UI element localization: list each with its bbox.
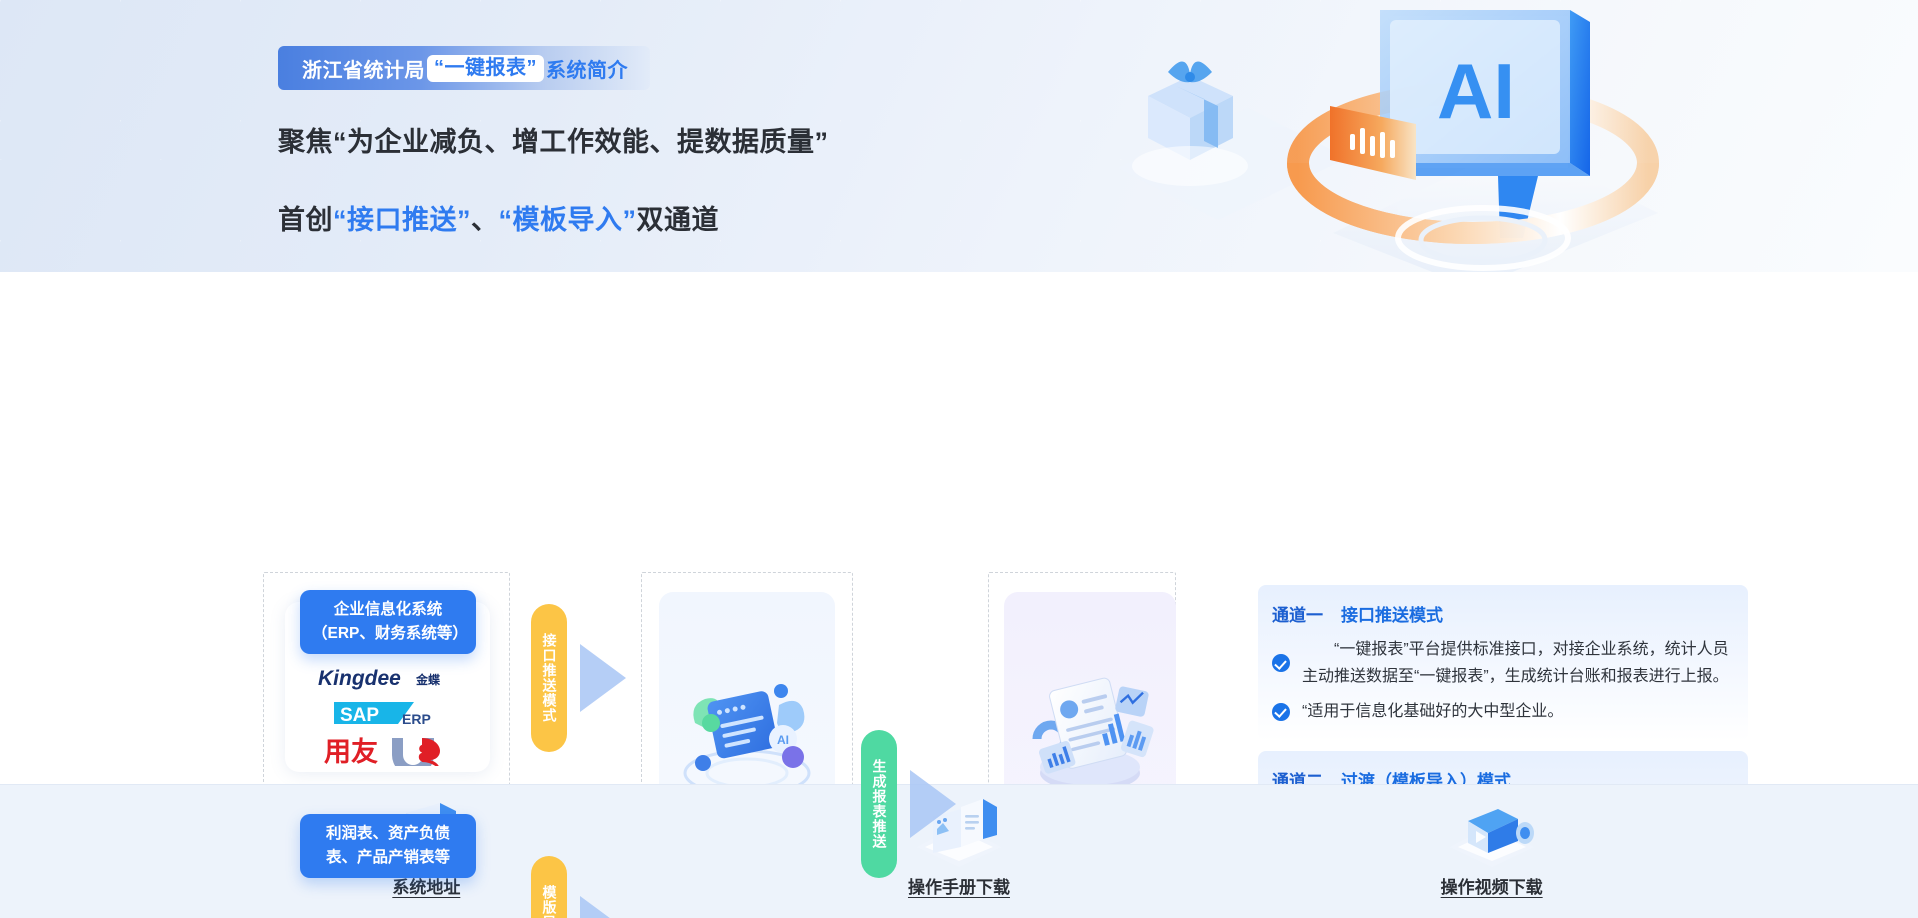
headline-2-accent-a: “接口推送” bbox=[333, 205, 471, 235]
svg-text:金蝶: 金蝶 bbox=[415, 672, 441, 687]
channel-one-card: 通道一 接口推送模式 “一键报表”平台提供标准接口，对接企业系统，统计人员主动推… bbox=[1258, 585, 1748, 741]
flow-diagram-section: Kingdee 金蝶 SAP ERP 用友 8 企业信息化系统 （ERP、财务系… bbox=[0, 272, 1918, 784]
headline-2-mid: 、 bbox=[471, 205, 499, 235]
arrow-import-mode bbox=[580, 896, 626, 918]
report-types-label: 利润表、资产负债 表、产品产销表等 bbox=[300, 814, 476, 878]
chip-prefix: 浙江省统计局 bbox=[302, 54, 425, 83]
headline-2-accent-b: “模板导入” bbox=[499, 205, 637, 235]
svg-text:Kingdee: Kingdee bbox=[318, 667, 401, 690]
page-title-chip: 浙江省统计局 “一键报表” 系统简介 bbox=[278, 46, 650, 90]
banner-illustration: AI bbox=[1098, 0, 1738, 272]
yonyou-logo: 用友 8 bbox=[318, 734, 458, 766]
headline-line-1: 聚焦“为企业减负、增工作效能、提数据质量” bbox=[278, 116, 829, 168]
link-video-download-label: 操作视频下载 bbox=[1441, 873, 1543, 898]
template-import-mode-pill: 模版导入模式 bbox=[531, 856, 567, 918]
svg-text:ERP: ERP bbox=[402, 711, 431, 727]
gift-box-icon bbox=[1132, 61, 1248, 186]
channel-one-name: 通道一 bbox=[1272, 601, 1323, 626]
chip-suffix: 系统简介 bbox=[546, 54, 628, 83]
link-manual-download-label: 操作手册下载 bbox=[908, 873, 1010, 898]
svg-text:AI: AI bbox=[1437, 47, 1515, 135]
channel-one-title: 接口推送模式 bbox=[1341, 601, 1443, 626]
header-banner: AI 浙江省统计局 “一键报表” 系统简介 聚焦“为企业减负、增工作效能、提数据 bbox=[0, 0, 1918, 272]
template-import-mode-text: 模版导入模式 bbox=[539, 885, 560, 918]
headline-2-post: 双通道 bbox=[637, 205, 720, 235]
headline-line-2: 首创“接口推送”、“模板导入”双通道 bbox=[278, 194, 829, 246]
link-video-download[interactable]: 操作视频下载 bbox=[1392, 785, 1592, 898]
arrow-push-mode bbox=[580, 644, 626, 712]
svg-text:SAP: SAP bbox=[340, 705, 379, 726]
footer-links-section: 系统地址 操作手册下载 bbox=[0, 784, 1918, 918]
svg-text:AI: AI bbox=[777, 733, 789, 747]
check-circle-icon bbox=[1272, 654, 1290, 672]
sap-erp-logo: SAP ERP bbox=[328, 698, 448, 728]
chip-highlight: “一键报表” bbox=[427, 55, 544, 82]
kingdee-logo: Kingdee 金蝶 bbox=[318, 664, 458, 692]
channel-one-bullet-2: “适用于信息化基础好的大中型企业。 bbox=[1272, 698, 1730, 725]
erp-systems-label: 企业信息化系统 （ERP、财务系统等） bbox=[300, 590, 476, 654]
check-circle-icon bbox=[1272, 703, 1290, 721]
channel-one-bullet-2-text: “适用于信息化基础好的大中型企业。 bbox=[1302, 698, 1563, 725]
channel-one-heading: 通道一 接口推送模式 bbox=[1272, 601, 1730, 626]
video-camera-icon bbox=[1432, 791, 1552, 869]
headline-2-pre: 首创 bbox=[278, 205, 333, 235]
generate-report-push-pill: 生成报表推送 bbox=[861, 730, 897, 878]
interface-push-mode-text: 接口推送模式 bbox=[539, 633, 560, 723]
headline-1-text: 聚焦“为企业减负、增工作效能、提数据质量” bbox=[278, 127, 829, 157]
generate-report-push-text: 生成报表推送 bbox=[869, 759, 890, 849]
interface-push-mode-pill: 接口推送模式 bbox=[531, 604, 567, 752]
svg-text:用友: 用友 bbox=[324, 737, 378, 766]
channel-one-bullet-1: “一键报表”平台提供标准接口，对接企业系统，统计人员主动推送数据至“一键报表”，… bbox=[1272, 636, 1730, 690]
svg-text:8: 8 bbox=[418, 740, 432, 766]
arrow-generate-push bbox=[910, 770, 956, 838]
channel-one-bullet-1-text: “一键报表”平台提供标准接口，对接企业系统，统计人员主动推送数据至“一键报表”，… bbox=[1302, 636, 1730, 690]
